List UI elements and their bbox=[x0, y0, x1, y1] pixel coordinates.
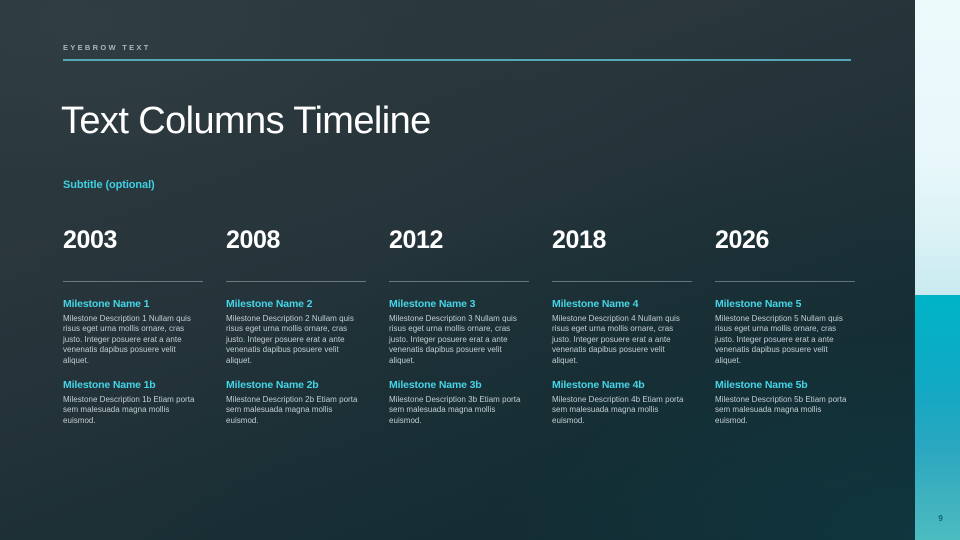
slide-canvas: EYEBROW TEXT Text Columns Timeline Subti… bbox=[0, 0, 960, 540]
accent-bar-top bbox=[915, 0, 960, 295]
milestone-block: Milestone Name 5Milestone Description 5 … bbox=[715, 298, 855, 366]
column-year: 2008 bbox=[226, 228, 366, 253]
milestone-block: Milestone Name 2bMilestone Description 2… bbox=[226, 379, 366, 426]
milestone-name: Milestone Name 5b bbox=[715, 379, 855, 392]
milestone-name: Milestone Name 4 bbox=[552, 298, 692, 311]
timeline-column: 2012Milestone Name 3Milestone Descriptio… bbox=[389, 228, 529, 427]
column-year: 2026 bbox=[715, 228, 855, 253]
timeline-columns: 2003Milestone Name 1Milestone Descriptio… bbox=[63, 228, 863, 427]
milestone-description: Milestone Description 1b Etiam porta sem… bbox=[63, 395, 203, 427]
timeline-column: 2026Milestone Name 5Milestone Descriptio… bbox=[715, 228, 855, 427]
milestone-description: Milestone Description 5b Etiam porta sem… bbox=[715, 395, 855, 427]
milestone-description: Milestone Description 1 Nullam quis risu… bbox=[63, 314, 203, 367]
milestone-block: Milestone Name 1Milestone Description 1 … bbox=[63, 298, 203, 366]
eyebrow-text: EYEBROW TEXT bbox=[63, 43, 151, 52]
milestone-block: Milestone Name 4bMilestone Description 4… bbox=[552, 379, 692, 426]
right-accent-bar bbox=[915, 0, 960, 540]
milestone-description: Milestone Description 4 Nullam quis risu… bbox=[552, 314, 692, 367]
milestone-name: Milestone Name 2 bbox=[226, 298, 366, 311]
milestone-name: Milestone Name 5 bbox=[715, 298, 855, 311]
milestone-name: Milestone Name 4b bbox=[552, 379, 692, 392]
accent-bar-bottom bbox=[915, 295, 960, 540]
timeline-column: 2008Milestone Name 2Milestone Descriptio… bbox=[226, 228, 366, 427]
milestone-description: Milestone Description 3b Etiam porta sem… bbox=[389, 395, 529, 427]
milestone-block: Milestone Name 4Milestone Description 4 … bbox=[552, 298, 692, 366]
milestone-description: Milestone Description 5 Nullam quis risu… bbox=[715, 314, 855, 367]
slide-subtitle: Subtitle (optional) bbox=[63, 179, 155, 191]
milestone-name: Milestone Name 1 bbox=[63, 298, 203, 311]
page-title: Text Columns Timeline bbox=[61, 101, 431, 143]
milestone-name: Milestone Name 1b bbox=[63, 379, 203, 392]
milestone-name: Milestone Name 3b bbox=[389, 379, 529, 392]
milestone-name: Milestone Name 2b bbox=[226, 379, 366, 392]
milestone-name: Milestone Name 3 bbox=[389, 298, 529, 311]
page-number: 9 bbox=[938, 514, 943, 523]
milestone-block: Milestone Name 1bMilestone Description 1… bbox=[63, 379, 203, 426]
column-divider bbox=[226, 281, 366, 282]
eyebrow-divider bbox=[63, 59, 851, 61]
column-divider bbox=[63, 281, 203, 282]
column-year: 2018 bbox=[552, 228, 692, 253]
milestone-description: Milestone Description 4b Etiam porta sem… bbox=[552, 395, 692, 427]
milestone-description: Milestone Description 3 Nullam quis risu… bbox=[389, 314, 529, 367]
column-divider bbox=[715, 281, 855, 282]
milestone-block: Milestone Name 2Milestone Description 2 … bbox=[226, 298, 366, 366]
milestone-block: Milestone Name 5bMilestone Description 5… bbox=[715, 379, 855, 426]
column-divider bbox=[389, 281, 529, 282]
column-year: 2003 bbox=[63, 228, 203, 253]
milestone-block: Milestone Name 3Milestone Description 3 … bbox=[389, 298, 529, 366]
column-year: 2012 bbox=[389, 228, 529, 253]
timeline-column: 2018Milestone Name 4Milestone Descriptio… bbox=[552, 228, 692, 427]
milestone-description: Milestone Description 2 Nullam quis risu… bbox=[226, 314, 366, 367]
milestone-description: Milestone Description 2b Etiam porta sem… bbox=[226, 395, 366, 427]
column-divider bbox=[552, 281, 692, 282]
milestone-block: Milestone Name 3bMilestone Description 3… bbox=[389, 379, 529, 426]
timeline-column: 2003Milestone Name 1Milestone Descriptio… bbox=[63, 228, 203, 427]
